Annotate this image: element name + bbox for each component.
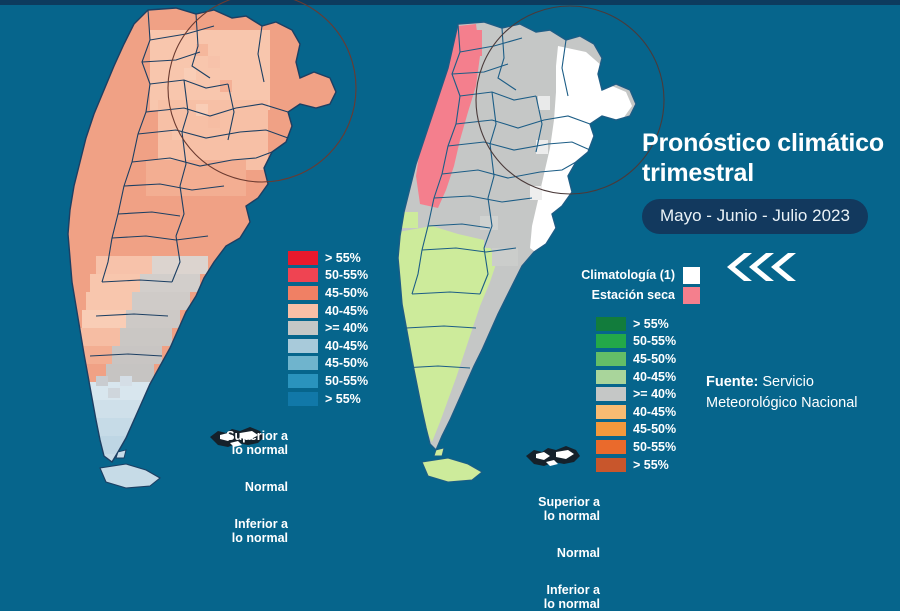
temperature-group-1: Normal — [196, 480, 288, 494]
precipitation-pct-0: > 55% — [633, 317, 669, 331]
temperature-bin-4: >= 40% — [288, 319, 386, 337]
precipitation-note-0: Climatología (1) — [500, 265, 700, 285]
precipitation-swatch-6 — [596, 422, 626, 436]
precipitation-color-ramp: > 55%50-55%45-50%40-45%>= 40%40-45%45-50… — [596, 315, 700, 473]
precipitation-group-1: Normal — [504, 546, 600, 560]
precipitation-pct-6: 45-50% — [633, 422, 676, 436]
temperature-pct-4: >= 40% — [325, 321, 368, 335]
precipitation-bin-6: 45-50% — [596, 421, 700, 439]
temperature-pct-6: 45-50% — [325, 356, 368, 370]
temperature-bin-5: 40-45% — [288, 337, 386, 355]
temperature-legend: > 55%50-55%45-50%40-45%>= 40%40-45%45-50… — [196, 249, 386, 407]
precipitation-bin-8: > 55% — [596, 456, 700, 474]
temperature-bin-1: 50-55% — [288, 267, 386, 285]
temperature-swatch-7 — [288, 374, 318, 388]
temperature-pct-5: 40-45% — [325, 339, 368, 353]
temperature-pct-3: 40-45% — [325, 304, 368, 318]
temperature-swatch-1 — [288, 268, 318, 282]
infographic-canvas: > 55%50-55%45-50%40-45%>= 40%40-45%45-50… — [0, 0, 900, 506]
temperature-group-2: Inferior alo normal — [196, 517, 288, 545]
page-title: Pronóstico climático trimestral — [642, 128, 894, 188]
precipitation-pct-2: 45-50% — [633, 352, 676, 366]
precipitation-group-0: Superior alo normal — [504, 495, 600, 523]
temperature-bin-2: 45-50% — [288, 284, 386, 302]
precipitation-note-swatch-0 — [683, 267, 700, 284]
temperature-pct-1: 50-55% — [325, 268, 368, 282]
temperature-color-ramp: > 55%50-55%45-50%40-45%>= 40%40-45%45-50… — [288, 249, 386, 407]
precipitation-swatch-5 — [596, 405, 626, 419]
precipitation-pct-4: >= 40% — [633, 387, 676, 401]
temperature-pct-0: > 55% — [325, 251, 361, 265]
source-label: Fuente: — [706, 374, 758, 390]
precipitation-pct-3: 40-45% — [633, 370, 676, 384]
precipitation-swatch-8 — [596, 458, 626, 472]
precipitation-bin-1: 50-55% — [596, 333, 700, 351]
temperature-swatch-5 — [288, 339, 318, 353]
precipitation-note-label-0: Climatología (1) — [581, 268, 675, 282]
precipitation-swatch-4 — [596, 387, 626, 401]
temperature-pct-8: > 55% — [325, 392, 361, 406]
temperature-swatch-3 — [288, 304, 318, 318]
temperature-swatch-8 — [288, 392, 318, 406]
temperature-swatch-2 — [288, 286, 318, 300]
source-credit: Fuente: Servicio Meteorológico Nacional — [706, 372, 896, 414]
precipitation-pct-1: 50-55% — [633, 334, 676, 348]
precipitation-swatch-2 — [596, 352, 626, 366]
precipitation-bin-7: 50-55% — [596, 438, 700, 456]
precipitation-note-label-1: Estación seca — [592, 288, 675, 302]
precipitation-group-2: Inferior alo normal — [504, 583, 600, 611]
precipitation-swatch-0 — [596, 317, 626, 331]
title-line-2: trimestral — [642, 159, 754, 187]
temperature-swatch-6 — [288, 356, 318, 370]
precipitation-bin-4: >= 40% — [596, 385, 700, 403]
precipitation-note-swatch-1 — [683, 287, 700, 304]
precipitation-bin-2: 45-50% — [596, 350, 700, 368]
temperature-bin-0: > 55% — [288, 249, 386, 267]
precipitation-bin-5: 40-45% — [596, 403, 700, 421]
precipitation-legend-notes: Climatología (1)Estación seca — [500, 265, 700, 305]
precipitation-pct-5: 40-45% — [633, 405, 676, 419]
temperature-bin-6: 45-50% — [288, 355, 386, 373]
precipitation-note-1: Estación seca — [500, 285, 700, 305]
temperature-pct-7: 50-55% — [325, 374, 368, 388]
temperature-swatch-0 — [288, 251, 318, 265]
temperature-pct-2: 45-50% — [325, 286, 368, 300]
precipitation-swatch-3 — [596, 370, 626, 384]
precipitation-swatch-1 — [596, 334, 626, 348]
temperature-group-0: Superior alo normal — [196, 429, 288, 457]
title-line-1: Pronóstico climático — [642, 129, 884, 157]
precipitation-pct-7: 50-55% — [633, 440, 676, 454]
precipitation-bin-0: > 55% — [596, 315, 700, 333]
forecast-period-badge: Mayo - Junio - Julio 2023 — [642, 199, 868, 234]
temperature-bin-7: 50-55% — [288, 372, 386, 390]
precipitation-bin-3: 40-45% — [596, 368, 700, 386]
precipitation-legend: Climatología (1)Estación seca > 55%50-55… — [500, 265, 700, 473]
title-block: Pronóstico climático trimestral Mayo - J… — [642, 128, 894, 234]
temperature-bin-3: 40-45% — [288, 302, 386, 320]
precipitation-pct-8: > 55% — [633, 458, 669, 472]
precipitation-swatch-7 — [596, 440, 626, 454]
temperature-bin-8: > 55% — [288, 390, 386, 408]
temperature-swatch-4 — [288, 321, 318, 335]
triple-chevron-left-icon — [718, 250, 808, 284]
